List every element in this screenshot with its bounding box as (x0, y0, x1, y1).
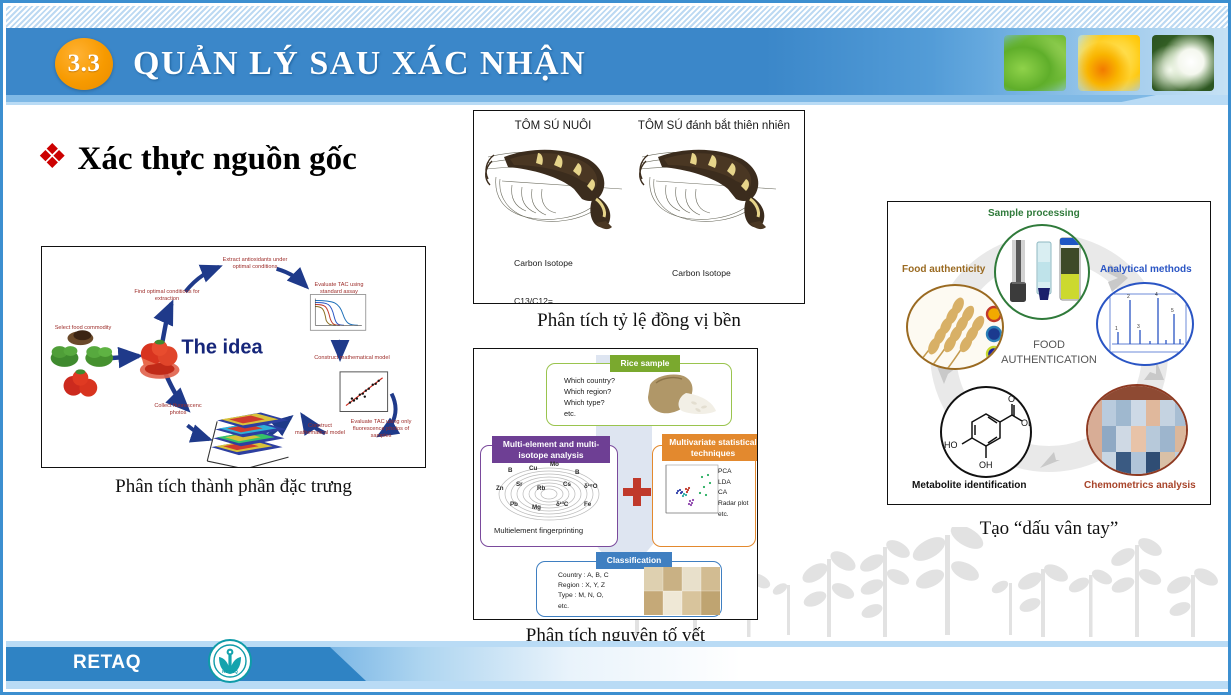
shrimp-illustration-wild (636, 137, 786, 232)
wheat-icon (908, 286, 1004, 370)
label-chemometrics-analysis: Chemometrics analysis (1084, 480, 1196, 491)
carbon-line-wild: C13/C12= -16.32 ‰ (672, 292, 735, 304)
element-B-1: B (508, 467, 512, 474)
header-underline-dark (6, 95, 1156, 102)
retaq-logo: RETAQ (208, 639, 252, 683)
carbon-label-wild: Carbon Isotope (672, 267, 735, 279)
idea-label-construct-model-lower: Construct mathematical model (294, 423, 346, 437)
node-chemometrics-analysis (1086, 384, 1188, 476)
footer-org-name: RETAQ (73, 652, 141, 674)
label-sample-processing: Sample processing (988, 208, 1080, 219)
classification-text: Country : A, B, C Region : X, Y, Z Type … (558, 571, 640, 612)
shrimp-heading-wild: TÔM SÚ đánh bắt thiên nhiên (626, 120, 802, 132)
carbon-ratio-farmed: C13/C12= (514, 296, 553, 304)
plus-icon (622, 477, 652, 507)
carbon-label-farmed: Carbon Isotope (514, 257, 577, 269)
figure-idea-cycle: The idea Select food commodity Find opti… (41, 246, 426, 468)
banner-multivariate: Multivariate statistical techniques (662, 434, 758, 461)
header-photo-strip (1004, 35, 1214, 91)
element-Mg: Mg (532, 504, 541, 511)
fingerprint-caption: Multielement fingerprinting (494, 525, 618, 536)
svg-text:HO: HO (944, 440, 958, 450)
presentation-slide: 3.3 QUẢN LÝ SAU XÁC NHẬN ❖ Xác thực nguồ… (0, 0, 1231, 695)
element-Mo: Mo (550, 461, 559, 468)
decorative-hatch-strip (6, 6, 1231, 28)
svg-text:2: 2 (1127, 294, 1130, 300)
element-Rb: Rb (537, 485, 545, 492)
page-title: QUẢN LÝ SAU XÁC NHẬN (133, 39, 586, 89)
yellow-flower-photo (1078, 35, 1140, 91)
node-food-authenticity (906, 284, 1004, 370)
green-grass-photo (1004, 35, 1066, 91)
figure-shrimp-isotope: TÔM SÚ NUÔI TÔM SÚ đánh bắt thiên nhiên (473, 110, 805, 304)
caption-shrimp: Phân tích tỷ lệ đồng vị bền (473, 310, 805, 332)
rice-grain-samples-grid (644, 567, 720, 615)
idea-label-construct-model-upper: Construct mathematical model (314, 355, 390, 362)
idea-label-find-conditions: Find optimal conditions for extraction (130, 289, 204, 303)
caption-auth: Tạo “dấu vân tay” (887, 518, 1211, 540)
rice-bag-illustration (646, 373, 718, 419)
element-Pb: Pb (510, 501, 518, 508)
element-Cs: Cs (563, 481, 571, 488)
caption-idea: Phân tích thành phần đặc trưng (41, 476, 426, 498)
idea-label-evaluate-tac-standard: Evaluate TAC using standard assay (304, 282, 374, 296)
white-daisy-photo (1152, 35, 1214, 91)
element-Sr: Sr (516, 481, 523, 488)
svg-text:O: O (1008, 394, 1015, 404)
label-food-authenticity: Food authenticity (902, 264, 985, 275)
authentication-center-label: FOOD AUTHENTICATION (1001, 338, 1097, 368)
heatmap-icon (1088, 386, 1188, 476)
svg-text:3: 3 (1137, 324, 1140, 330)
carbon-line-farmed: C13/C12= -20.68 ‰ (514, 282, 577, 304)
label-metabolite-identification: Metabolite identification (912, 480, 1026, 491)
section-number-badge: 3.3 (55, 38, 113, 90)
label-analytical-methods: Analytical methods (1100, 264, 1192, 275)
footer-blue-band (6, 647, 326, 681)
element-Cu: Cu (529, 465, 537, 472)
element-Zn: Zn (496, 485, 504, 492)
svg-text:OH: OH (979, 460, 993, 470)
idea-center-title: The idea (181, 337, 262, 360)
element-Fe: Fe (584, 501, 591, 508)
svg-text:4: 4 (1155, 292, 1158, 298)
svg-text:RETAQ: RETAQ (222, 669, 238, 674)
retaq-logo-icon: RETAQ (213, 644, 247, 678)
mass-spectrum-icon: 123 45 (1098, 284, 1194, 366)
isotope-block-farmed: Carbon Isotope C13/C12= -20.68 ‰ Nitroge… (514, 245, 577, 304)
svg-text:5: 5 (1171, 308, 1174, 314)
shrimp-illustration-farmed (482, 137, 632, 232)
svg-text:OH: OH (1021, 418, 1032, 428)
multivariate-methods-list: PCA LDA CA Radar plot etc. (718, 467, 758, 520)
node-analytical-methods: 123 45 (1096, 282, 1194, 366)
banner-rice-sample: Rice sample (610, 355, 680, 372)
bullet-heading-label: Xác thực nguồn gốc (77, 141, 356, 178)
idea-label-extract-antioxidants: Extract antioxidants under optimal condi… (214, 257, 296, 271)
sample-tubes-icon (996, 226, 1090, 320)
node-metabolite-identification: O OH HO OH (940, 386, 1032, 478)
element-B-2: B (575, 469, 579, 476)
banner-multielement: Multi-element and multi-isotope analysis (492, 436, 610, 463)
element-d13C: δ¹³C (556, 501, 568, 508)
isotope-block-wild: Carbon Isotope C13/C12= -16.32 ‰ Nitroge… (672, 255, 735, 304)
pca-scatter-plot (656, 463, 720, 525)
figure-rice-trace-element: Rice sample Which country? Which region?… (473, 348, 758, 620)
molecule-structure-icon: O OH HO OH (942, 388, 1032, 478)
node-sample-processing (994, 224, 1090, 320)
figure-food-authentication: Sample processing Analytical methods (887, 201, 1211, 505)
idea-label-evaluate-tac-fluorescence: Evaluate TAC using only fluorescence pho… (348, 419, 414, 440)
rice-questions: Which country? Which region? Which type?… (564, 375, 644, 419)
bullet-heading: ❖ Xác thực nguồn gốc (37, 141, 357, 178)
diamond-bullet-icon: ❖ (37, 141, 67, 175)
idea-label-select-commodity: Select food commodity (47, 325, 119, 332)
element-d18O: δ¹⁸O (584, 483, 598, 490)
svg-text:1: 1 (1115, 326, 1118, 332)
shrimp-heading-farmed: TÔM SÚ NUÔI (488, 120, 618, 132)
idea-label-collect-photos: Collect fluorescenc photos (146, 403, 210, 417)
